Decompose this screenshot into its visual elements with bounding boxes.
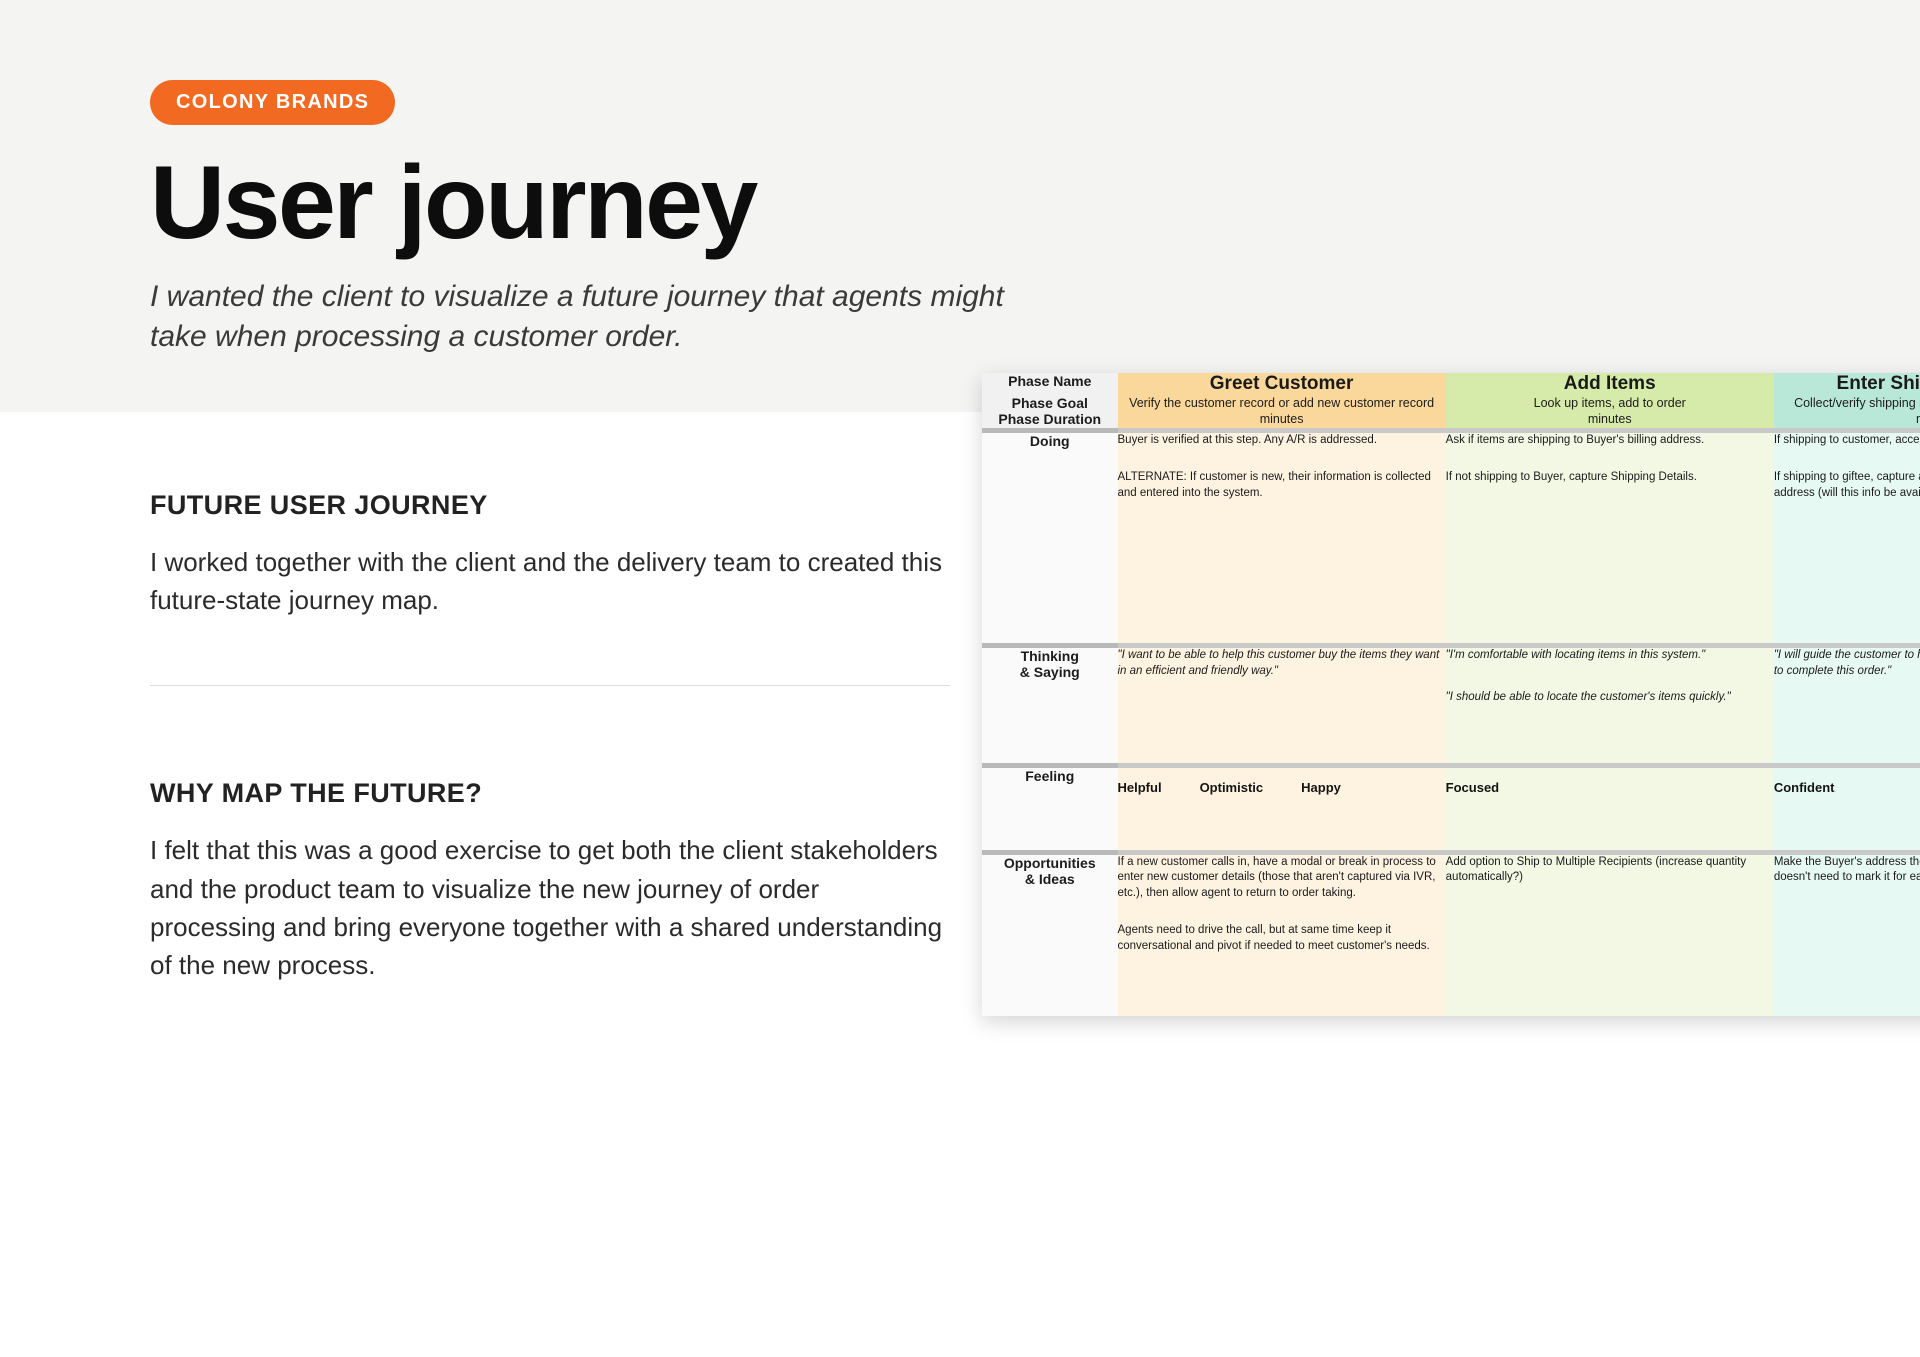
thinking-item: "I will guide the customer to help provi… [1774,648,1920,679]
table-row-phase-duration: Phase Duration minutes minutes minutes [982,411,1920,427]
opportunities-cell-3: Make the Buyer's address the default add… [1774,855,1920,1017]
feeling-tag: Helpful [1118,779,1162,797]
table-row-thinking-saying: Thinking & Saying "I want to be able to … [982,648,1920,763]
phase-duration-2: minutes [1446,411,1774,427]
row-label-line-1: Thinking [1021,648,1079,664]
hero-content: COLONY BRANDS User journey I wanted the … [150,80,1070,357]
phase-name-1: Greet Customer [1118,373,1446,395]
row-label-doing: Doing [982,433,1118,644]
feeling-tag: Optimistic [1200,779,1264,797]
feeling-cell-1: Helpful Optimistic Happy [1118,768,1446,850]
doing-item: If not shipping to Buyer, capture Shippi… [1446,470,1774,486]
doing-item: ALTERNATE: If customer is new, their inf… [1118,470,1446,501]
journey-map-table: Phase Name Greet Customer Add Items Ente… [982,373,1920,1016]
journey-map[interactable]: Phase Name Greet Customer Add Items Ente… [982,373,1920,1016]
section-future-user-journey: FUTURE USER JOURNEY I worked together wi… [150,490,950,619]
feeling-list: Focused [1446,779,1774,797]
opportunities-cell-2: Add option to Ship to Multiple Recipient… [1446,855,1774,1017]
thinking-item: "I want to be able to help this customer… [1118,648,1446,679]
feeling-tag: Focused [1446,779,1499,797]
feeling-tag: Happy [1301,779,1341,797]
page-root: COLONY BRANDS User journey I wanted the … [0,0,1920,1357]
opportunity-item: Make the Buyer's address the default add… [1774,855,1920,886]
doing-item: If shipping to customer, accept default … [1774,433,1920,449]
row-label-opportunities-ideas: Opportunities & Ideas [982,855,1118,1017]
thinking-item: "I'm comfortable with locating items in … [1446,648,1774,664]
thinking-item: "I should be able to locate the customer… [1446,690,1774,706]
feeling-cell-2: Focused [1446,768,1774,850]
row-label-thinking-saying: Thinking & Saying [982,648,1118,763]
table-row-doing: Doing Buyer is verified at this step. An… [982,433,1920,644]
table-row-feeling: Feeling Helpful Optimistic Happy Focused [982,768,1920,850]
feeling-tag: Confident [1774,779,1835,797]
doing-cell-3: If shipping to customer, accept default … [1774,433,1920,644]
doing-cell-2: Ask if items are shipping to Buyer's bil… [1446,433,1774,644]
doing-cell-1: Buyer is verified at this step. Any A/R … [1118,433,1446,644]
thinking-cell-2: "I'm comfortable with locating items in … [1446,648,1774,763]
brand-pill: COLONY BRANDS [150,80,395,125]
phase-goal-3: Collect/verify shipping information incl… [1774,395,1920,411]
row-label-phase-name: Phase Name [982,373,1118,395]
phase-goal-1: Verify the customer record or add new cu… [1118,395,1446,411]
opportunities-cell-1: If a new customer calls in, have a modal… [1118,855,1446,1017]
table-row-phase-goal: Phase Goal Verify the customer record or… [982,395,1920,411]
thinking-cell-1: "I want to be able to help this customer… [1118,648,1446,763]
feeling-list: Helpful Optimistic Happy [1118,779,1446,797]
row-label-line-2: & Ideas [1025,871,1075,887]
phase-name-2: Add Items [1446,373,1774,395]
opportunity-item: If a new customer calls in, have a modal… [1118,855,1446,902]
section-heading: FUTURE USER JOURNEY [150,490,950,521]
phase-duration-3: minutes [1774,411,1920,427]
row-label-feeling: Feeling [982,768,1118,850]
row-label-phase-duration: Phase Duration [982,411,1118,427]
doing-item: If shipping to giftee, capture address o… [1774,470,1920,501]
table-row-opportunities-ideas: Opportunities & Ideas If a new customer … [982,855,1920,1017]
row-label-phase-goal: Phase Goal [982,395,1118,411]
section-divider [150,685,950,686]
table-row-phase-name: Phase Name Greet Customer Add Items Ente… [982,373,1920,395]
thinking-cell-3: "I will guide the customer to help provi… [1774,648,1920,763]
section-heading: WHY MAP THE FUTURE? [150,778,950,809]
doing-item: Ask if items are shipping to Buyer's bil… [1446,433,1774,449]
section-why-map-the-future: WHY MAP THE FUTURE? I felt that this was… [150,778,950,984]
page-subtitle: I wanted the client to visualize a futur… [150,277,1050,357]
doing-item: Buyer is verified at this step. Any A/R … [1118,433,1446,449]
feeling-list: Confident [1774,779,1920,797]
opportunity-item: Add option to Ship to Multiple Recipient… [1446,855,1774,886]
phase-duration-1: minutes [1118,411,1446,427]
feeling-cell-3: Confident [1774,768,1920,850]
section-body: I felt that this was a good exercise to … [150,831,950,984]
row-label-line-1: Opportunities [1004,855,1096,871]
phase-goal-2: Look up items, add to order [1446,395,1774,411]
hero-band: COLONY BRANDS User journey I wanted the … [0,0,1920,412]
phase-name-3: Enter Shipping Details [1774,373,1920,395]
page-title: User journey [150,151,1070,255]
section-body: I worked together with the client and th… [150,543,950,619]
opportunity-item: Agents need to drive the call, but at sa… [1118,923,1446,954]
row-label-line-2: & Saying [1020,664,1080,680]
narrative-column: FUTURE USER JOURNEY I worked together wi… [150,490,950,984]
